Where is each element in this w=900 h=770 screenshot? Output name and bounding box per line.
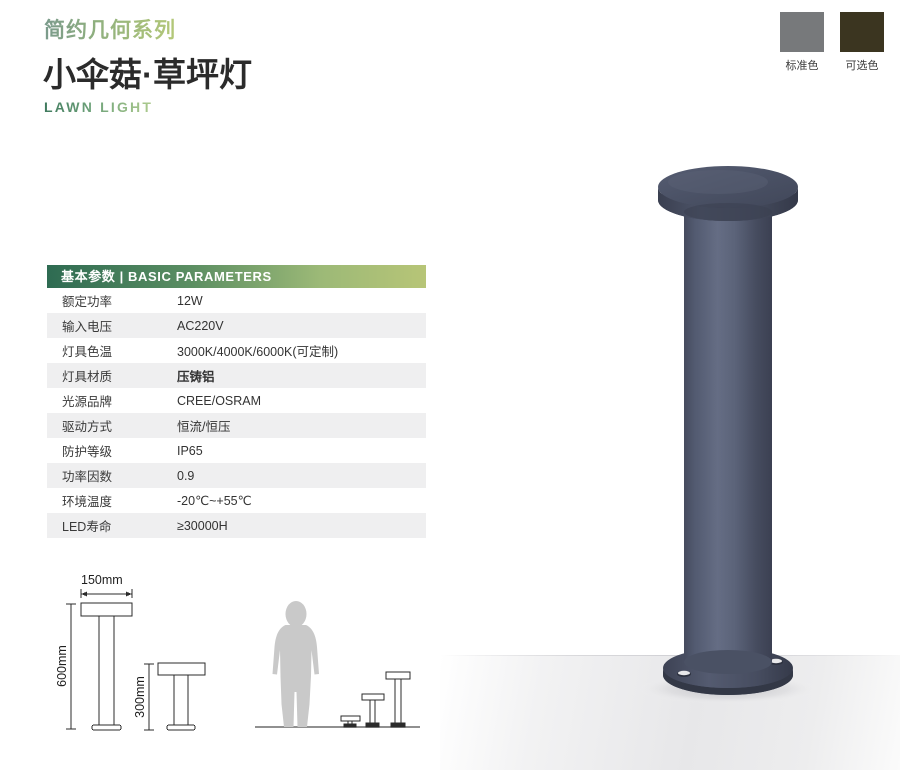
dimension-width-label: 150mm	[81, 573, 123, 587]
table-row: LED寿命 ≥30000H	[47, 513, 426, 538]
swatch-label-optional: 可选色	[846, 57, 879, 73]
param-value: 3000K/4000K/6000K(可定制)	[177, 341, 338, 360]
param-label: 驱动方式	[47, 416, 177, 435]
param-label: LED寿命	[47, 516, 177, 535]
param-value: -20℃~+55℃	[177, 493, 252, 508]
swatch-standard-color[interactable]: 标准色	[780, 12, 824, 73]
param-value: AC220V	[177, 319, 224, 333]
human-silhouette	[273, 601, 320, 727]
param-label: 灯具材质	[47, 366, 177, 385]
param-value: 压铸铝	[177, 366, 215, 385]
scale-lamp-small	[341, 716, 360, 727]
human-scale-drawing	[255, 592, 420, 742]
basic-parameters-table: 基本参数 | BASIC PARAMETERS 额定功率 12W 输入电压 AC…	[47, 265, 426, 538]
param-value: IP65	[177, 444, 203, 458]
table-row: 灯具色温 3000K/4000K/6000K(可定制)	[47, 338, 426, 363]
param-label: 功率因数	[47, 466, 177, 485]
table-row: 输入电压 AC220V	[47, 313, 426, 338]
param-label: 灯具色温	[47, 341, 177, 360]
product-photo	[600, 140, 860, 720]
color-swatch-group: 标准色 可选色	[780, 12, 884, 73]
dimension-height-small-label: 300mm	[133, 676, 147, 718]
param-label: 防护等级	[47, 441, 177, 460]
table-row: 防护等级 IP65	[47, 438, 426, 463]
swatch-optional-color[interactable]: 可选色	[840, 12, 884, 73]
product-neck-shadow	[684, 203, 772, 221]
series-title: 简约几何系列	[44, 14, 176, 44]
param-value: ≥30000H	[177, 519, 228, 533]
table-row: 灯具材质 压铸铝	[47, 363, 426, 388]
scale-lamp-medium	[362, 694, 384, 727]
table-header: 基本参数 | BASIC PARAMETERS	[47, 265, 426, 288]
table-row: 驱动方式 恒流/恒压	[47, 413, 426, 438]
param-value: 恒流/恒压	[177, 416, 230, 435]
param-label: 额定功率	[47, 291, 177, 310]
swatch-chip-optional[interactable]	[840, 12, 884, 52]
param-value: 0.9	[177, 469, 194, 483]
param-label: 光源品牌	[47, 391, 177, 410]
product-subtitle: LAWN LIGHT	[44, 99, 153, 115]
table-row: 环境温度 -20℃~+55℃	[47, 488, 426, 513]
param-label: 环境温度	[47, 491, 177, 510]
swatch-label-standard: 标准色	[786, 57, 819, 73]
param-value: 12W	[177, 294, 203, 308]
table-row: 功率因数 0.9	[47, 463, 426, 488]
scale-lamp-tall	[386, 672, 410, 727]
param-label: 输入电压	[47, 316, 177, 335]
param-value: CREE/OSRAM	[177, 394, 261, 408]
table-row: 额定功率 12W	[47, 288, 426, 313]
swatch-chip-standard[interactable]	[780, 12, 824, 52]
page-title: 小伞菇·草坪灯	[43, 48, 252, 96]
dimension-height-large-label: 600mm	[55, 645, 69, 687]
dimension-drawing: 150mm 600mm 300mm	[48, 556, 263, 756]
product-post	[684, 200, 772, 674]
product-spec-sheet: 简约几何系列 小伞菇·草坪灯 LAWN LIGHT 标准色 可选色 基本参数 |…	[0, 0, 900, 770]
table-row: 光源品牌 CREE/OSRAM	[47, 388, 426, 413]
